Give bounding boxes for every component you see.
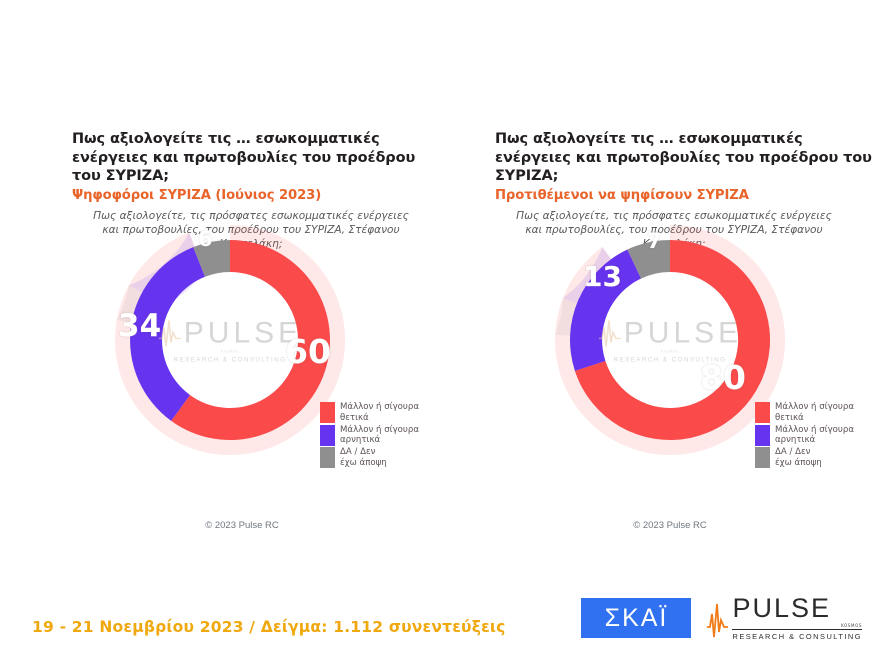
copyright-left: © 2023 Pulse RC xyxy=(22,520,462,531)
pulse-logo-rule xyxy=(732,629,862,630)
panel-subtitle: Ψηφοφόροι ΣΥΡΙΖΑ (Ιούνιος 2023) xyxy=(72,188,440,205)
slide: Πως αξιολογείτε τις … εσωκομματικές ενέρ… xyxy=(0,0,880,660)
value-label-dk-r: 7 xyxy=(647,231,662,252)
legend-item-dk-r[interactable]: ΔΑ / Δενέχω άποψη xyxy=(755,447,880,470)
value-label-dk: 6 xyxy=(198,229,213,250)
chart-panel-left: Πως αξιολογείτε τις … εσωκομματικές ενέρ… xyxy=(0,0,440,590)
page-title: Πως αξιολογείτε τις … εσωκομματικές ενέρ… xyxy=(72,130,440,186)
pulse-logo-sub: RESEARCH & CONSULTING xyxy=(732,632,862,641)
legend-item-positive-r[interactable]: Μάλλον ή σίγουραθετικά xyxy=(755,402,880,425)
pulse-logo-kosmos: KOSMOS xyxy=(732,623,862,628)
legend-swatch-negative xyxy=(320,425,335,446)
legend-swatch-dk-r xyxy=(755,447,770,468)
pulse-logo-text-block: PULSE KOSMOS RESEARCH & CONSULTING xyxy=(732,596,862,641)
legend-swatch-dk xyxy=(320,447,335,468)
legend-swatch-positive xyxy=(320,402,335,423)
footer-logos: ΣΚΑΪ PULSE KOSMOS RESEARCH & CONSULTING xyxy=(581,596,862,641)
skai-logo-text: ΣΚΑΪ xyxy=(605,606,669,631)
pulse-logo-word: PULSE xyxy=(732,596,862,622)
chart-panel-right: Πως αξιολογείτε τις … εσωκομματικές ενέρ… xyxy=(440,0,880,590)
value-label-positive-r: 80 xyxy=(700,361,746,394)
legend-left: Μάλλον ή σίγουραθετικά Μάλλον ή σίγουραα… xyxy=(320,402,450,470)
donut-chart-left: PULSE KOSMOS RESEARCH & CONSULTING 60 34… xyxy=(105,215,355,465)
legend-swatch-negative-r xyxy=(755,425,770,446)
legend-item-dk[interactable]: ΔΑ / Δενέχω άποψη xyxy=(320,447,450,470)
legend-item-positive[interactable]: Μάλλον ή σίγουραθετικά xyxy=(320,402,450,425)
legend-swatch-positive-r xyxy=(755,402,770,423)
copyright-right: © 2023 Pulse RC xyxy=(450,520,880,531)
legend-label-dk-r: ΔΑ / Δενέχω άποψη xyxy=(775,447,822,469)
value-label-positive: 60 xyxy=(285,335,331,368)
page-title-right: Πως αξιολογείτε τις … εσωκομματικές ενέρ… xyxy=(495,130,880,186)
legend-label-negative-r: Μάλλον ή σίγουρααρνητικά xyxy=(775,425,854,447)
panel-subtitle-right: Προτιθέμενοι να ψηφίσουν ΣΥΡΙΖΑ xyxy=(495,188,880,205)
legend-label-positive: Μάλλον ή σίγουραθετικά xyxy=(340,402,419,424)
pulse-wave-icon xyxy=(707,601,729,641)
legend-right: Μάλλον ή σίγουραθετικά Μάλλον ή σίγουραα… xyxy=(755,402,880,470)
skai-logo: ΣΚΑΪ xyxy=(581,598,691,638)
footer-date-sample: 19 - 21 Νοεμβρίου 2023 / Δείγμα: 1.112 σ… xyxy=(32,618,506,636)
legend-item-negative-r[interactable]: Μάλλον ή σίγουρααρνητικά xyxy=(755,425,880,448)
legend-label-negative: Μάλλον ή σίγουρααρνητικά xyxy=(340,425,419,447)
legend-item-negative[interactable]: Μάλλον ή σίγουρααρνητικά xyxy=(320,425,450,448)
value-label-negative-r: 13 xyxy=(583,263,622,291)
pulse-logo: PULSE KOSMOS RESEARCH & CONSULTING xyxy=(707,596,862,641)
value-label-negative: 34 xyxy=(118,311,161,342)
legend-label-dk: ΔΑ / Δενέχω άποψη xyxy=(340,447,387,469)
legend-label-positive-r: Μάλλον ή σίγουραθετικά xyxy=(775,402,854,424)
